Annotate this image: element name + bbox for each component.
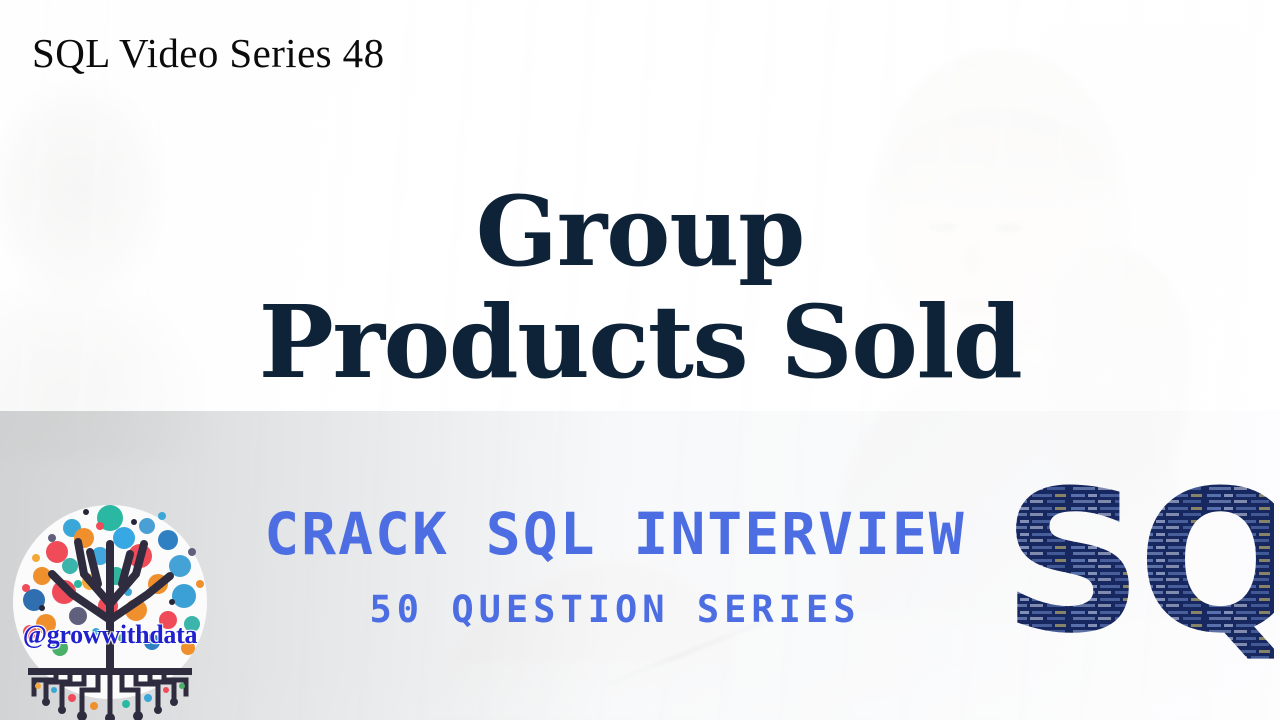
banner-subheadline: 50 QUESTION SERIES bbox=[190, 588, 1040, 631]
brand-logo[interactable]: @growwithdata bbox=[12, 492, 208, 720]
sql-wordmark: SQL bbox=[1002, 478, 1274, 678]
page-title: Group Products Sold bbox=[0, 178, 1280, 398]
brand-handle: @growwithdata bbox=[12, 620, 208, 650]
slide-canvas: SQL Video Series 48 Group Products Sold … bbox=[0, 0, 1280, 720]
banner-headline: CRACK SQL INTERVIEW bbox=[190, 500, 1040, 568]
page-title-line-2: Products Sold bbox=[0, 286, 1280, 398]
series-label: SQL Video Series 48 bbox=[32, 29, 384, 77]
page-title-line-1: Group bbox=[0, 178, 1280, 286]
